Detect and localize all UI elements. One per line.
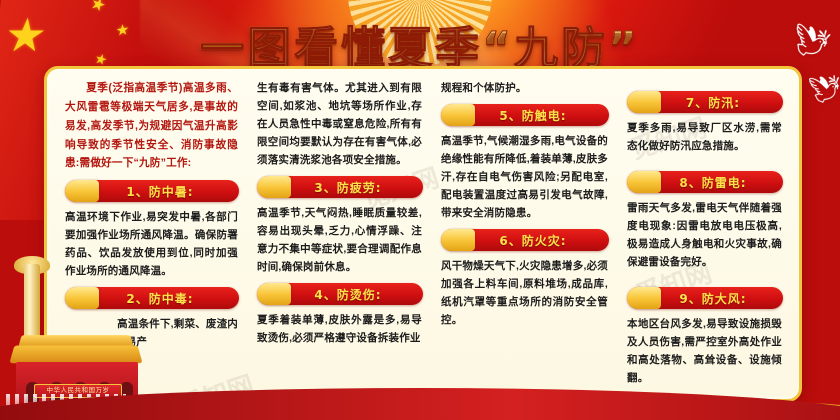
- section-body-8: 雷雨天气多发,雷电天气伴随着强度电现象:因雷电放电电压极高,极易造成人身触电和火…: [621, 197, 789, 271]
- poster-root: ★ ★ ★ ★ ★ 🕊 🕊 一图看懂夏季“九防” 觅知网 觅知网 觅知网 觅知网…: [0, 0, 840, 420]
- section-body-5: 高温季节,气候潮湿多雨,电气设备的绝缘性能有所降低,着装单薄,皮肤多汗,存在自电…: [435, 130, 615, 222]
- huabiao-column: [24, 264, 40, 360]
- gate-arch: [26, 382, 39, 402]
- section-title-9: 9、防大风:: [663, 290, 746, 307]
- section-header-3: 3、防疲劳:: [257, 176, 423, 198]
- header-cap-icon: [65, 180, 99, 202]
- content-card: 觅知网 觅知网 觅知网 觅知网 夏季(泛指高温季节)高温多雨、大风雷雹等极端天气…: [44, 66, 802, 402]
- column-2: 生有毒有害气体。尤其进入到有限空间,如浆池、地坑等场所作业,存在人员急性中毒或窒…: [251, 77, 429, 393]
- header-cap-icon: [257, 176, 291, 198]
- section-header-1: 1、防中暑:: [65, 180, 239, 202]
- section-body-6: 风干物燥天气下,火灾隐患增多,必须加强各上料车间,原料堆场,成品库,纸机汽罩等重…: [435, 255, 615, 329]
- section-body-4-part1: 夏季着装单薄,皮肤外露是多,易导致烫伤,必须严格遵守设备拆装作业: [251, 309, 429, 347]
- section-body-2-part2: 生有毒有害气体。尤其进入到有限空间,如浆池、地坑等场所作业,存在人员急性中毒或窒…: [251, 77, 429, 169]
- column-3: 规程和个体防护。 5、防触电: 高温季节,气候潮湿多雨,电气设备的绝缘性能有所降…: [435, 77, 615, 393]
- section-body-4-part2: 规程和个体防护。: [435, 77, 615, 97]
- section-title-7: 7、防汛:: [670, 94, 740, 111]
- columns-container: 夏季(泛指高温季节)高温多雨、大风雷雹等极端天气居多,是事故的易发,高发季节,为…: [47, 69, 799, 399]
- section-header-2: 2、防中毒:: [65, 287, 239, 309]
- section-body-3: 高温季节,天气闷热,睡眠质量较差,容易出现头晕,乏力,心情浮躁、注意力不集中等症…: [251, 202, 429, 276]
- section-title-5: 5、防触电:: [483, 107, 566, 124]
- header-cap-icon: [441, 104, 475, 126]
- section-title-3: 3、防疲劳:: [298, 179, 381, 196]
- section-body-1: 高温环境下作业,易突发中暑,各部门要加强作业场所通风降温。确保防署药品、饮品发放…: [59, 206, 245, 280]
- section-title-8: 8、防雷电:: [663, 174, 746, 191]
- section-header-8: 8、防雷电:: [627, 171, 783, 193]
- dove-icon: 🕊: [807, 74, 840, 104]
- section-header-5: 5、防触电:: [441, 104, 609, 126]
- section-title-1: 1、防中暑:: [110, 183, 193, 200]
- section-title-2: 2、防中毒:: [110, 290, 193, 307]
- header-cap-icon: [627, 91, 661, 113]
- header-cap-icon: [257, 283, 291, 305]
- intro-paragraph: 夏季(泛指高温季节)高温多雨、大风雷雹等极端天气居多,是事故的易发,高发季节,为…: [59, 77, 245, 173]
- section-header-9: 9、防大风:: [627, 287, 783, 309]
- section-header-6: 6、防火灾:: [441, 229, 609, 251]
- header-cap-icon: [627, 287, 661, 309]
- section-header-4: 4、防烫伤:: [257, 283, 423, 305]
- section-header-7: 7、防汛:: [627, 91, 783, 113]
- column-4: 7、防汛: 夏季多雨,易导致厂区水涝,需常态化做好防汛应急措施。 8、防雷电: …: [621, 77, 789, 393]
- column-1: 夏季(泛指高温季节)高温多雨、大风雷雹等极端天气居多,是事故的易发,高发季节,为…: [59, 77, 245, 393]
- section-title-4: 4、防烫伤:: [298, 286, 381, 303]
- section-body-7: 夏季多雨,易导致厂区水涝,需常态化做好防汛应急措施。: [621, 117, 789, 155]
- header-cap-icon: [65, 287, 99, 309]
- section-body-2-part1: 高温条件下,剩菜、废渣内极易产: [59, 313, 245, 351]
- section-body-9: 本地区台风多发,易导致设施损毁及人员伤害,需严控室外高处作业和高处落物、高耸设备…: [621, 313, 789, 387]
- header-cap-icon: [627, 171, 661, 193]
- header-cap-icon: [441, 229, 475, 251]
- section-title-6: 6、防火灾:: [483, 232, 566, 249]
